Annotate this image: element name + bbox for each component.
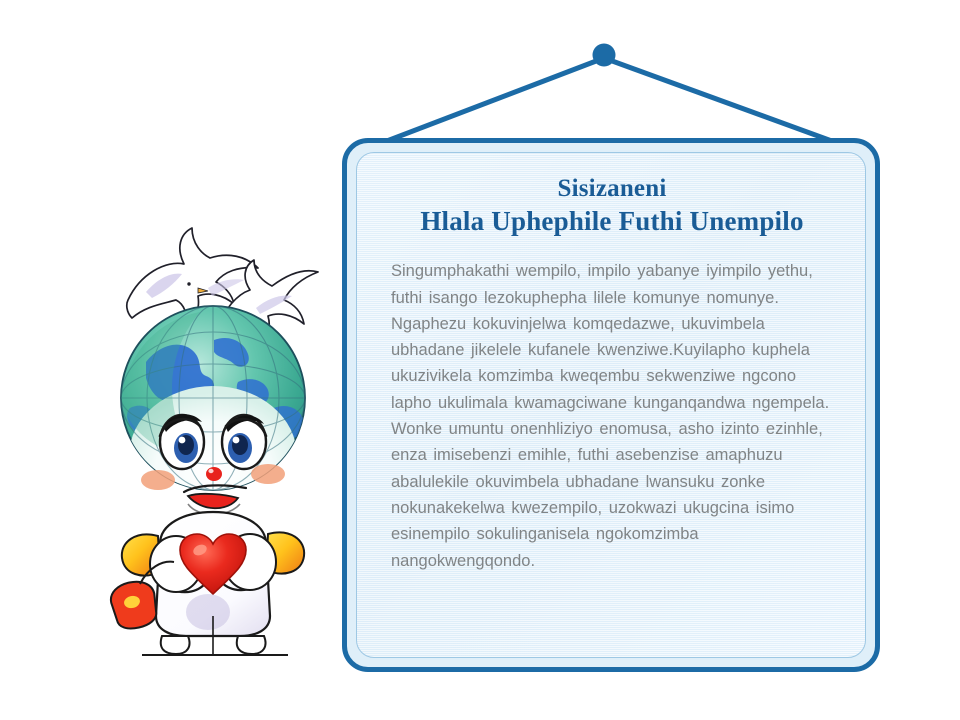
cheek-left — [141, 470, 175, 490]
globe-head-icon — [121, 306, 305, 526]
cheek-right — [251, 464, 285, 484]
hanging-sign-panel: Sisizaneni Hlala Uphephile Futhi Unempil… — [342, 138, 880, 672]
mascot-body-icon — [108, 512, 304, 655]
sign-title-line-1: Sisizaneni — [387, 175, 837, 204]
globe-head-mascot-icon — [88, 212, 338, 662]
sign-paragraph-1: Singumphakathi wempilo, impilo yabanye i… — [391, 258, 837, 311]
slide-canvas: Sisizaneni Hlala Uphephile Futhi Unempil… — [0, 0, 960, 720]
nose-icon — [206, 467, 222, 481]
hanging-knob-icon — [593, 44, 616, 67]
sign-body-text: Singumphakathi wempilo, impilo yabanye i… — [387, 258, 837, 574]
sign-title-line-2: Hlala Uphephile Futhi Unempilo — [387, 206, 837, 237]
sign-paragraph-2: Ngaphezu kokuvinjelwa komqedazwe, ukuvim… — [391, 311, 837, 574]
sign-inner-frame: Sisizaneni Hlala Uphephile Futhi Unempil… — [356, 152, 866, 658]
